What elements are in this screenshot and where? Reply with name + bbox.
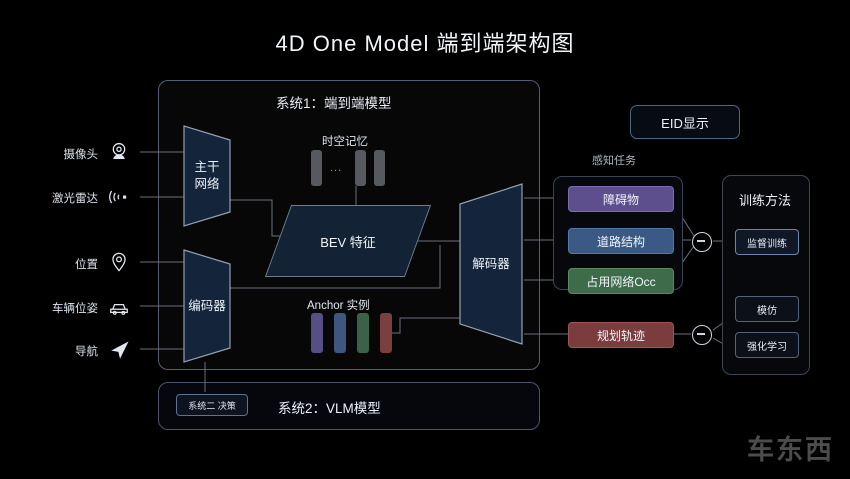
- input-label-camera: 摄像头: [28, 146, 98, 162]
- bev-feature-label: BEV 特征: [278, 205, 418, 277]
- eid-display-button[interactable]: EID显示: [630, 105, 740, 139]
- memory-bar: [355, 150, 366, 186]
- memory-ellipsis: ...: [330, 162, 342, 174]
- backbone-label-line1: 主干: [194, 159, 219, 176]
- perception-group-label: 感知任务: [592, 152, 636, 168]
- input-label-vehicle-pose: 车辆位姿: [28, 300, 98, 316]
- car-icon: [108, 296, 130, 318]
- input-label-position: 位置: [28, 256, 98, 272]
- training-item-reinforcement[interactable]: 强化学习: [735, 332, 799, 358]
- memory-label: 时空记忆: [322, 133, 368, 149]
- sum-node-perception: [692, 232, 712, 252]
- anchor-bar: [311, 313, 323, 353]
- backbone-label-line2: 网络: [194, 176, 219, 193]
- training-item-supervised[interactable]: 监督训练: [735, 229, 799, 255]
- anchor-bar: [334, 313, 346, 353]
- diagram-canvas: 4D One Model 端到端架构图 摄像头 激光雷达 位置 车辆位姿: [0, 0, 850, 479]
- encoder-label: 编码器: [182, 248, 232, 364]
- page-title: 4D One Model 端到端架构图: [0, 26, 850, 58]
- lidar-icon: [108, 186, 130, 208]
- sum-node-planning: [692, 325, 712, 345]
- watermark: 车东西: [747, 428, 834, 467]
- training-title: 训练方法: [739, 190, 791, 209]
- location-pin-icon: [108, 251, 130, 273]
- memory-bar: [374, 150, 385, 186]
- input-label-lidar: 激光雷达: [28, 190, 98, 206]
- perception-item-occupancy[interactable]: 占用网络Occ: [568, 268, 674, 294]
- perception-item-obstacle[interactable]: 障碍物: [568, 186, 674, 212]
- system2-label: 系统2：VLM模型: [278, 397, 381, 417]
- planning-trajectory-item[interactable]: 规划轨迹: [568, 322, 674, 348]
- navigation-arrow-icon: [108, 338, 132, 362]
- system2-decision-badge[interactable]: 系统二 决策: [176, 394, 248, 416]
- memory-bar: [311, 150, 322, 186]
- system1-label: 系统1：端到端模型: [276, 92, 392, 112]
- training-item-imitation[interactable]: 模仿: [735, 296, 799, 322]
- backbone-label: 主干 网络: [182, 124, 232, 228]
- decoder-label: 解码器: [458, 182, 524, 346]
- anchor-label: Anchor 实例: [307, 297, 370, 313]
- perception-item-road-structure[interactable]: 道路结构: [568, 228, 674, 254]
- camera-icon: [108, 141, 130, 163]
- input-label-navigation: 导航: [28, 343, 98, 359]
- anchor-bar: [380, 313, 392, 353]
- anchor-bar: [357, 313, 369, 353]
